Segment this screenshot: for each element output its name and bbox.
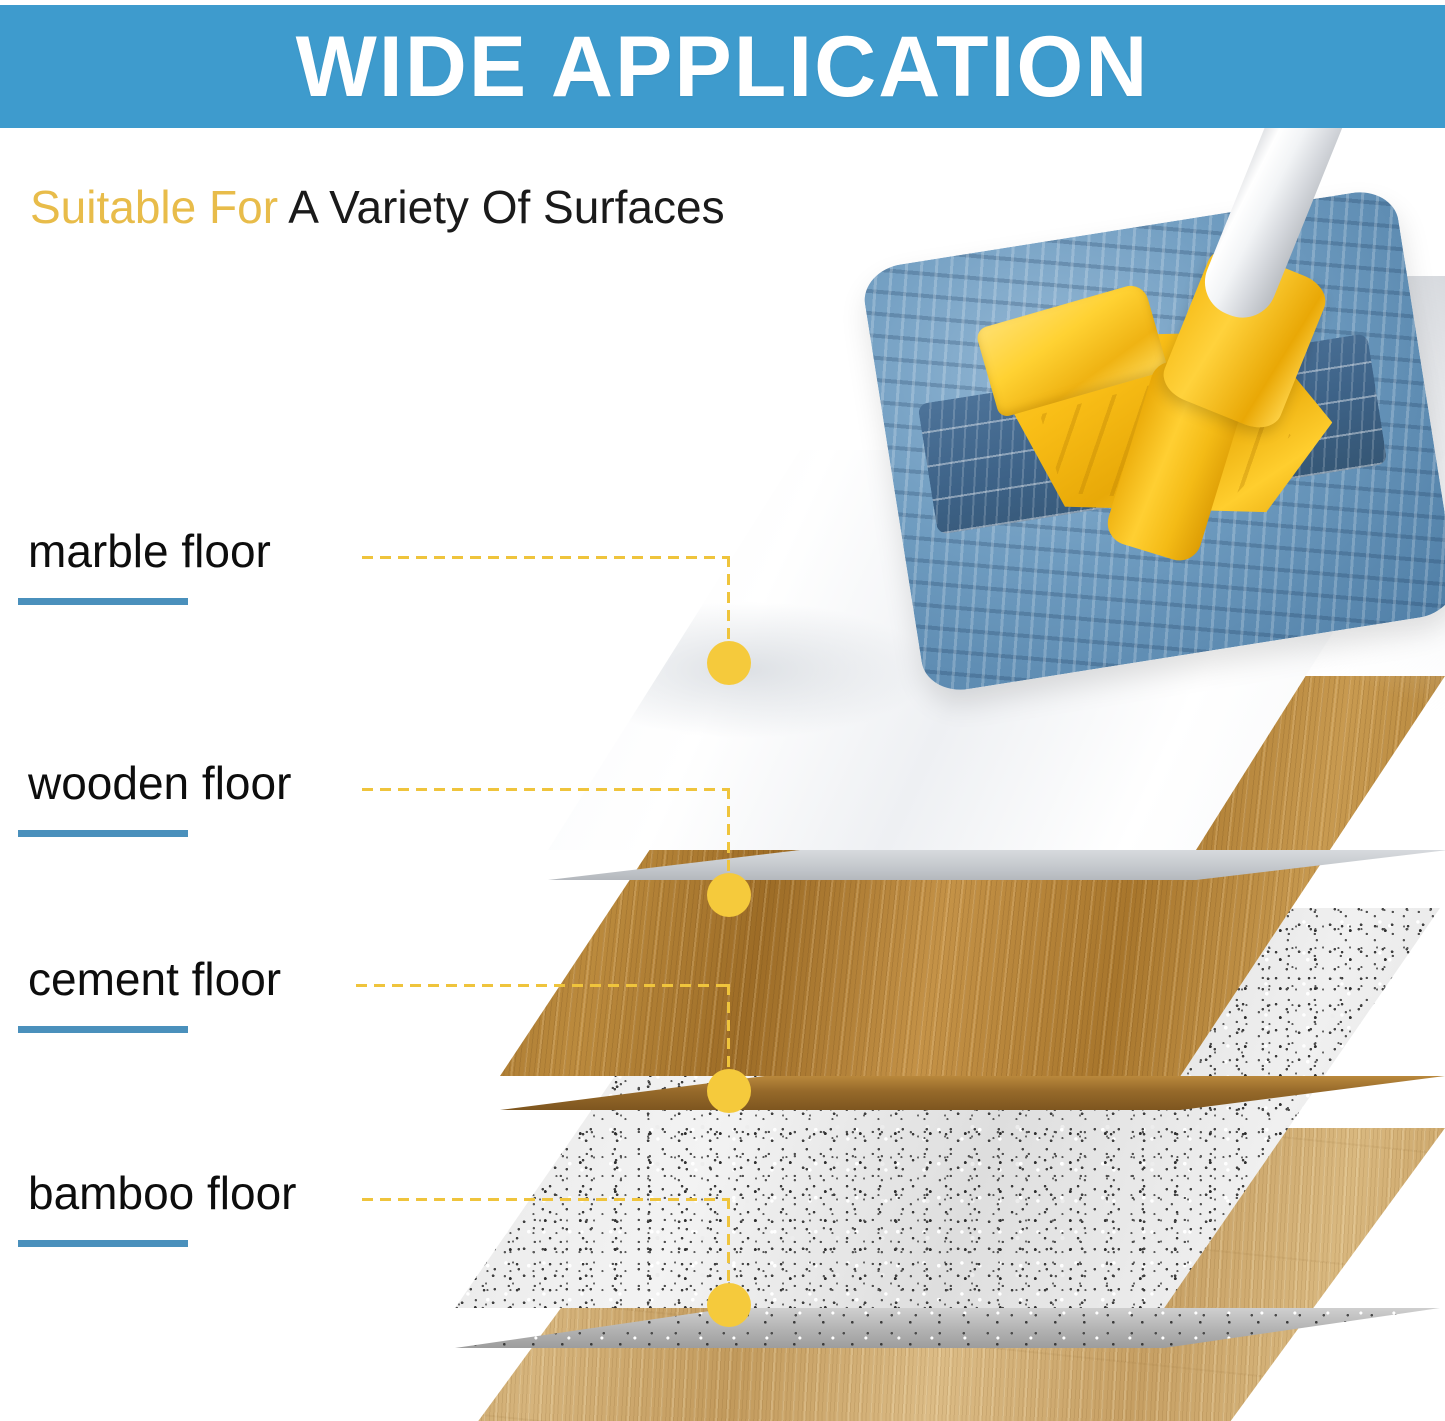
leader-line-vertical-wooden bbox=[727, 788, 730, 880]
callout-label-marble: marble floor bbox=[28, 528, 271, 574]
leader-line-horizontal-bamboo bbox=[362, 1198, 730, 1201]
leader-dot-wooden bbox=[707, 873, 751, 917]
leader-line-horizontal-cement bbox=[356, 984, 730, 987]
callout-label-wooden: wooden floor bbox=[28, 760, 291, 806]
leader-dot-cement bbox=[707, 1069, 751, 1113]
leader-line-vertical-cement bbox=[727, 984, 730, 1076]
leader-line-horizontal-marble bbox=[362, 556, 730, 559]
callout-label-bamboo: bamboo floor bbox=[28, 1170, 297, 1216]
callout-underline-cement bbox=[18, 1026, 188, 1033]
header-banner: WIDE APPLICATION bbox=[0, 5, 1445, 128]
leader-dot-bamboo bbox=[707, 1283, 751, 1327]
leader-line-horizontal-wooden bbox=[362, 788, 730, 791]
infographic-page: WIDE APPLICATION Suitable For A Variety … bbox=[0, 0, 1445, 1421]
illustration-stage: marble floor wooden floor cement floor b… bbox=[0, 128, 1445, 1421]
leader-line-vertical-bamboo bbox=[727, 1198, 730, 1290]
leader-line-vertical-marble bbox=[727, 556, 730, 646]
leader-dot-marble bbox=[707, 641, 751, 685]
callout-label-cement: cement floor bbox=[28, 956, 281, 1002]
callout-underline-bamboo bbox=[18, 1240, 188, 1247]
callout-underline-marble bbox=[18, 598, 188, 605]
mop-product-image bbox=[880, 156, 1445, 716]
page-title: WIDE APPLICATION bbox=[296, 24, 1150, 110]
callout-underline-wooden bbox=[18, 830, 188, 837]
